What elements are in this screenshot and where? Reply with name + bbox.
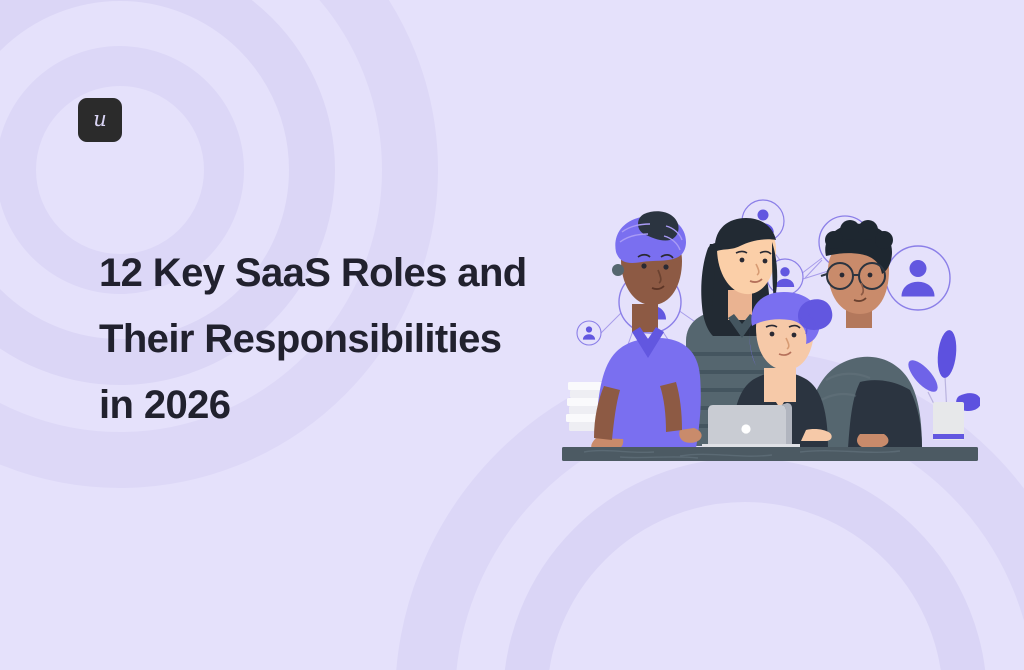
hero-illustration bbox=[560, 186, 980, 476]
brand-logo[interactable]: u bbox=[78, 98, 122, 142]
avatar-node-icon bbox=[577, 321, 601, 345]
avatar-node-icon bbox=[886, 246, 950, 310]
page-title: 12 Key SaaS Roles and Their Responsibili… bbox=[99, 240, 579, 438]
hero-card: u 12 Key SaaS Roles and Their Responsibi… bbox=[0, 0, 1024, 670]
person-headwrap bbox=[591, 211, 701, 452]
brand-logo-glyph: u bbox=[93, 109, 107, 130]
desk bbox=[562, 447, 978, 461]
laptop bbox=[702, 403, 800, 450]
